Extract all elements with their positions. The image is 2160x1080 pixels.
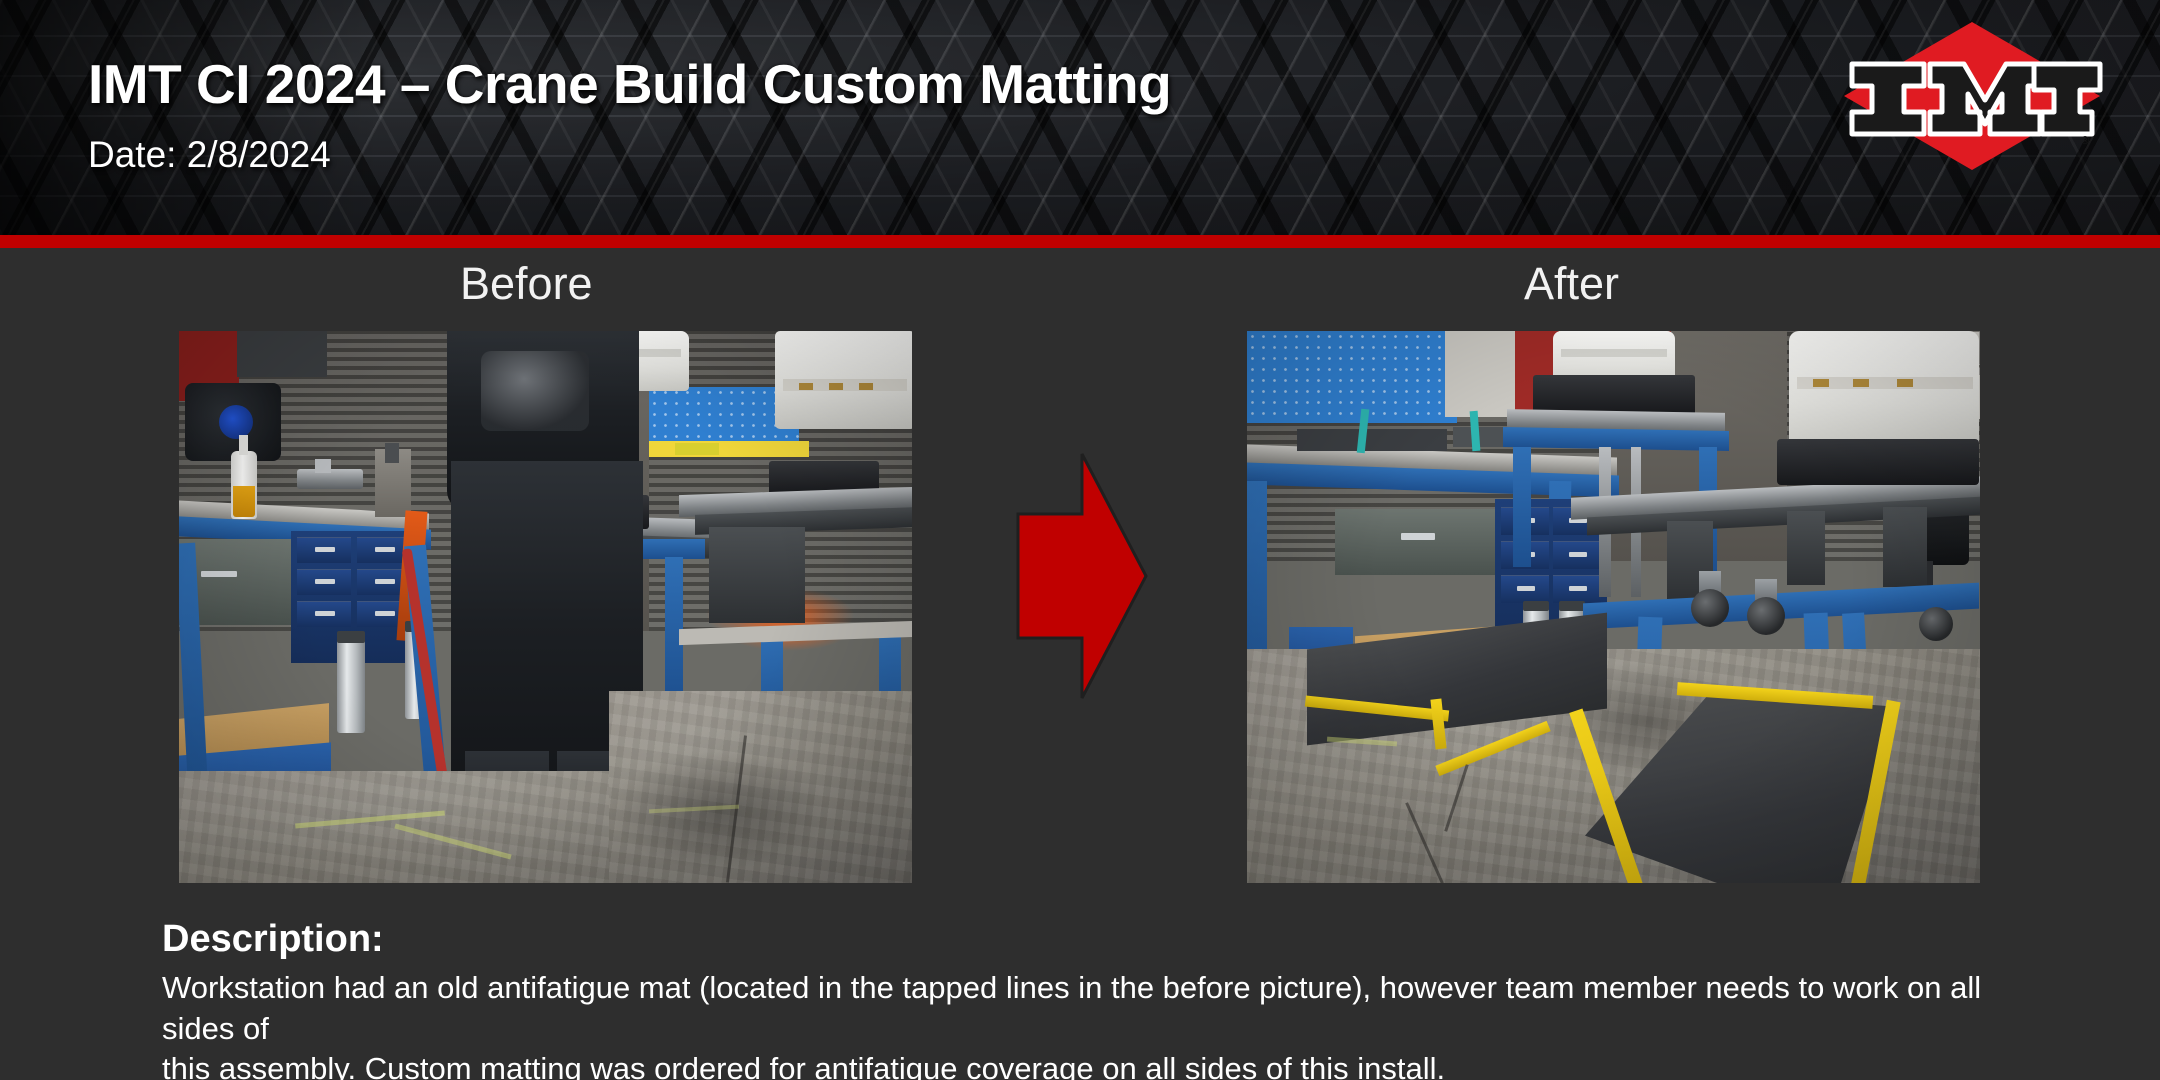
header-accent-bar (0, 235, 2160, 248)
page-title: IMT CI 2024 – Crane Build Custom Matting (88, 52, 1171, 116)
description-body: Workstation had an old antifatigue mat (… (162, 968, 2042, 1080)
svg-text:®: ® (2081, 135, 2089, 147)
description-line-1: Workstation had an old antifatigue mat (… (162, 968, 2042, 1049)
before-photo (179, 331, 912, 883)
after-photo (1247, 331, 1980, 883)
description-line-2: this assembly. Custom matting was ordere… (162, 1049, 2042, 1080)
description-heading: Description: (162, 918, 384, 961)
date-label: Date: 2/8/2024 (88, 134, 331, 176)
imt-logo: ® (1838, 16, 2106, 176)
after-caption: After (1524, 258, 1619, 310)
transition-arrow-icon (1016, 452, 1148, 700)
header-left-shade (0, 0, 380, 235)
before-caption: Before (460, 258, 593, 310)
slide-header: IMT CI 2024 – Crane Build Custom Matting… (0, 0, 2160, 235)
slide: IMT CI 2024 – Crane Build Custom Matting… (0, 0, 2160, 1080)
